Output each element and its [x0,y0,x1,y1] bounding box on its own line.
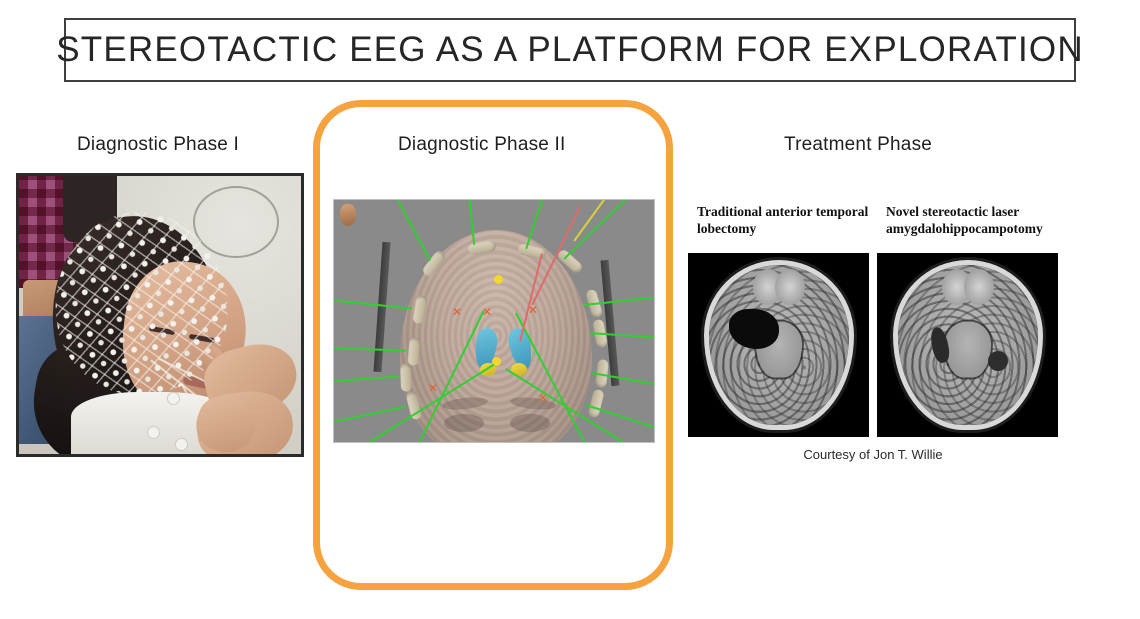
mri-anterior-temporal-lobectomy [688,253,869,437]
page-title: STEREOTACTIC EEG AS A PLATFORM FOR EXPLO… [56,30,1084,70]
mri-midbrain [945,321,991,377]
render-eye-left [444,414,484,432]
mri-ablation-lesion-secondary [988,351,1008,371]
mri-brain-right [898,265,1038,425]
phase-2-heading: Diagnostic Phase II [398,134,566,156]
mri-caption-left: Traditional anterior temporal lobectomy [697,203,873,238]
phase-1-heading: Diagnostic Phase I [77,134,239,156]
mri-caption-right: Novel stereotactic laser amygdalohippoca… [886,203,1062,238]
render-thumbnail-icon [340,204,356,226]
mri-orbit-right [964,269,994,305]
eeg-cheek-electrode [167,392,180,405]
mri-brain-left [709,265,849,425]
scalp-eeg-photo-content [19,176,301,454]
entry-marker-x: ✕ [428,382,438,394]
target-marker-superior [494,275,503,284]
scalp-eeg-photo [16,173,304,457]
depth-electrode-bolt [408,337,421,366]
seeg-trajectory-render: ✕ ✕ ✕ ✕ ✕ [333,199,655,443]
depth-electrode-bolt [400,363,412,391]
mri-orbit-right [775,269,805,305]
eeg-chin-electrode [175,438,188,451]
eeg-cheek-electrode [147,426,160,439]
image-credit: Courtesy of Jon T. Willie [688,447,1058,462]
entry-marker-x: ✕ [452,306,462,318]
phase-3-heading: Treatment Phase [784,134,932,156]
slide-title-box: STEREOTACTIC EEG AS A PLATFORM FOR EXPLO… [64,18,1076,82]
render-eye-right [510,414,550,432]
mri-laser-amygdalohippocampotomy [877,253,1058,437]
